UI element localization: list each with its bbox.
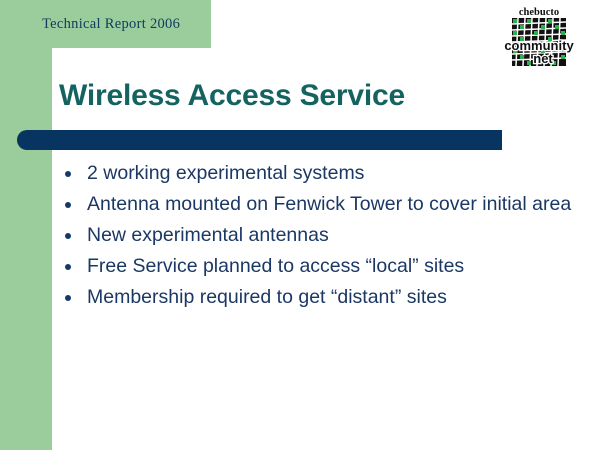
bullet-list: 2 working experimental systems Antenna m…: [60, 160, 580, 315]
list-item: 2 working experimental systems: [60, 160, 580, 187]
list-item-label: Membership required to get “distant” sit…: [87, 284, 580, 311]
list-item-label: Free Service planned to access “local” s…: [87, 253, 580, 280]
svg-text:chebucto: chebucto: [519, 7, 559, 18]
bullet-dot-icon: [65, 202, 71, 208]
bullet-dot-icon: [65, 264, 71, 270]
slide-canvas: Technical Report 2006 chebucto: [0, 0, 600, 450]
title-divider-bar: [17, 130, 502, 150]
svg-text:net: net: [533, 51, 553, 66]
green-sidebar-band: [0, 0, 52, 450]
list-item: Free Service planned to access “local” s…: [60, 253, 580, 280]
list-item: Membership required to get “distant” sit…: [60, 284, 580, 311]
bullet-dot-icon: [65, 233, 71, 239]
list-item-label: Antenna mounted on Fenwick Tower to cove…: [87, 191, 580, 218]
list-item-label: 2 working experimental systems: [87, 160, 580, 187]
list-item-label: New experimental antennas: [87, 222, 580, 249]
list-item: Antenna mounted on Fenwick Tower to cove…: [60, 191, 580, 218]
chebucto-community-net-logo: chebucto: [496, 4, 582, 68]
page-title: Wireless Access Service: [59, 79, 405, 113]
list-item: New experimental antennas: [60, 222, 580, 249]
bullet-dot-icon: [65, 295, 71, 301]
header-label: Technical Report 2006: [42, 16, 180, 33]
bullet-dot-icon: [65, 171, 71, 177]
